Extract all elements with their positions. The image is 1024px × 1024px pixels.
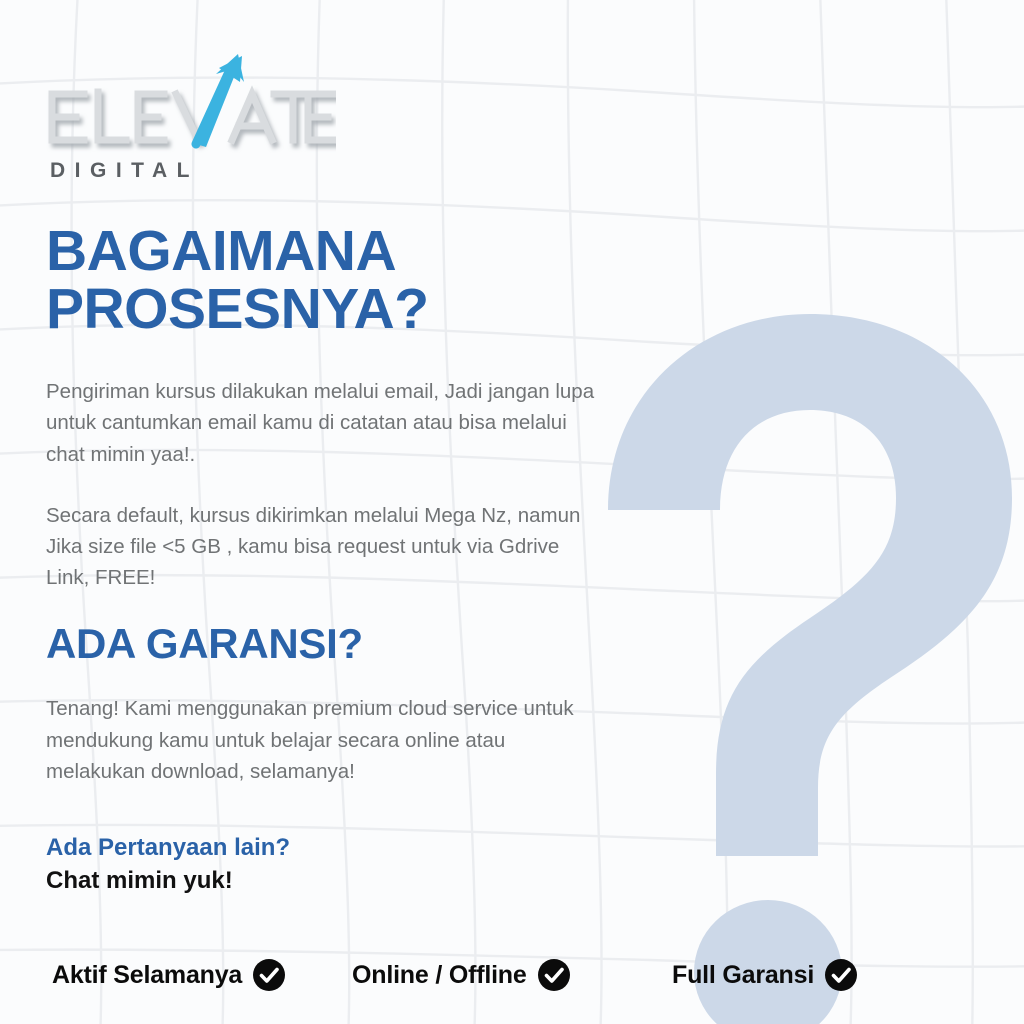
brand-tagline: DIGITAL — [50, 159, 466, 183]
question-mark-watermark — [560, 300, 1024, 1024]
headline-line-1: BAGAIMANA — [46, 222, 606, 280]
cta-action[interactable]: Chat mimin yuk! — [46, 865, 606, 896]
garansi-paragraph-1: Tenang! Kami menggunakan premium cloud s… — [46, 693, 606, 786]
garansi-heading: ADA GARANSI? — [46, 621, 606, 667]
proses-paragraph-1: Pengiriman kursus dilakukan melalui emai… — [46, 376, 606, 469]
check-circle-icon — [537, 958, 571, 992]
check-circle-icon — [824, 958, 858, 992]
headline-line-2: PROSESNYA? — [46, 280, 606, 338]
badge-label: Aktif Selamanya — [52, 961, 242, 990]
faq-content: BAGAIMANA PROSESNYA? Pengiriman kursus d… — [46, 222, 606, 896]
logo-mark — [46, 52, 336, 157]
badge-aktif-selamanya: Aktif Selamanya — [52, 958, 286, 992]
proses-paragraph-2: Secara default, kursus dikirimkan melalu… — [46, 500, 606, 593]
badge-full-garansi: Full Garansi — [672, 958, 858, 992]
badge-label: Full Garansi — [672, 961, 814, 990]
cta-question: Ada Pertanyaan lain? — [46, 833, 606, 863]
faq-poster: DIGITAL BAGAIMANA PROSESNYA? Pengiriman … — [0, 0, 1024, 1024]
badge-online-offline: Online / Offline — [352, 958, 571, 992]
page-title: BAGAIMANA PROSESNYA? — [46, 222, 606, 338]
check-circle-icon — [252, 958, 286, 992]
badge-label: Online / Offline — [352, 961, 527, 990]
brand-logo: DIGITAL — [46, 52, 466, 183]
footer-badges: Aktif Selamanya Online / Offline Full Ga… — [0, 945, 1024, 1005]
elevate-wordmark-icon — [46, 52, 336, 157]
cta-block: Ada Pertanyaan lain? Chat mimin yuk! — [46, 833, 606, 896]
